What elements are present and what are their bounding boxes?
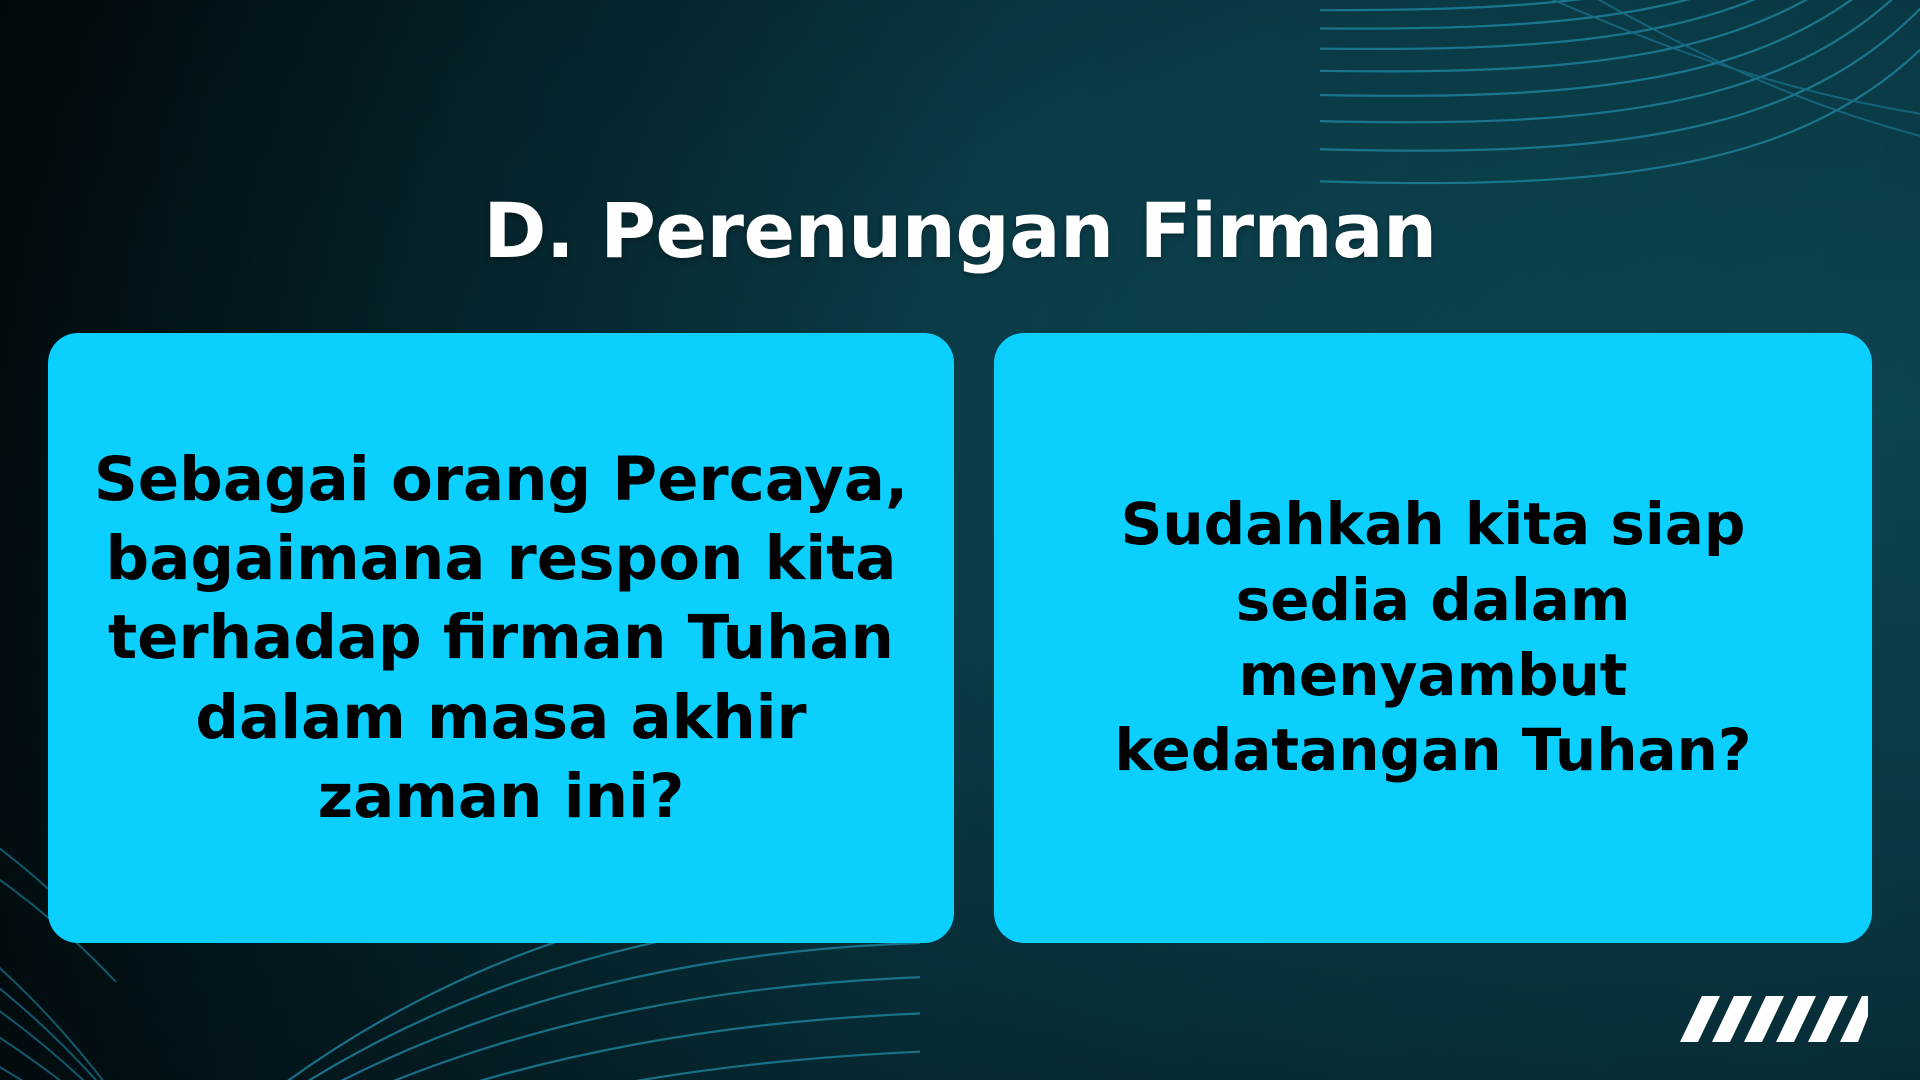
card-question-1[interactable]: Sebagai orang Percaya, bagaimana respon … — [48, 333, 954, 943]
card-2-line-2: sedia dalam — [1020, 563, 1846, 638]
diagonal-stripes-icon — [1662, 996, 1868, 1042]
slide-canvas: D. Perenungan Firman Sebagai orang Perca… — [0, 0, 1920, 1080]
page-title: D. Perenungan Firman — [0, 191, 1920, 271]
card-1-line-1: Sebagai orang Percaya, — [74, 440, 928, 519]
card-1-line-2: bagaimana respon kita — [74, 519, 928, 598]
card-question-1-text: Sebagai orang Percaya, bagaimana respon … — [74, 440, 928, 836]
card-1-line-5: zaman ini? — [74, 757, 928, 836]
card-question-2-text: Sudahkah kita siap sedia dalam menyambut… — [1020, 487, 1846, 789]
card-1-line-3: terhadap firman Tuhan — [74, 598, 928, 677]
card-2-line-4: kedatangan Tuhan? — [1020, 713, 1846, 788]
card-1-line-4: dalam masa akhir — [74, 678, 928, 757]
card-question-2[interactable]: Sudahkah kita siap sedia dalam menyambut… — [994, 333, 1872, 943]
card-2-line-1: Sudahkah kita siap — [1020, 487, 1846, 562]
question-cards-row: Sebagai orang Percaya, bagaimana respon … — [48, 333, 1872, 943]
card-2-line-3: menyambut — [1020, 638, 1846, 713]
